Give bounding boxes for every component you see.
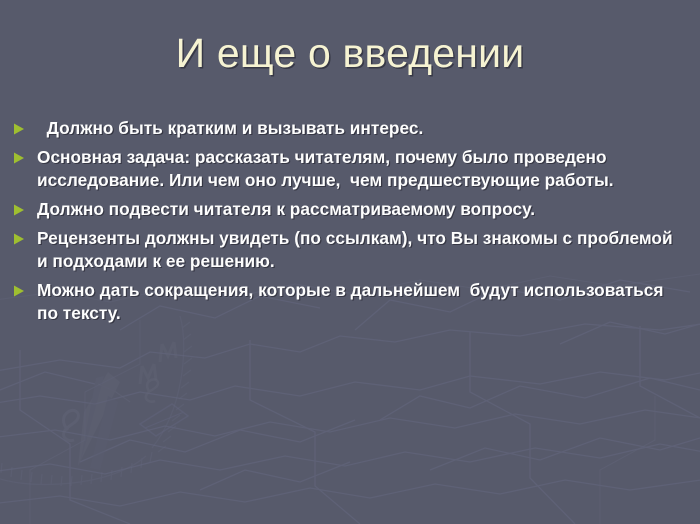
presentation-slide: И еще о введении Должно быть кратким и в… <box>0 0 700 524</box>
triangle-right-icon <box>13 152 25 164</box>
list-item-label: Должно подвести читателя к рассматриваем… <box>37 198 687 221</box>
list-item: Должно быть кратким и вызывать интерес. <box>13 117 687 140</box>
slide-title-container: И еще о введении <box>0 32 700 75</box>
list-item-label: Основная задача: рассказать читателям, п… <box>37 146 687 192</box>
list-item: Можно дать сокращения, которые в дальней… <box>13 279 687 325</box>
list-item: Рецензенты должны увидеть (по ссылкам), … <box>13 227 687 273</box>
triangle-right-icon <box>13 123 25 135</box>
list-item-label: Можно дать сокращения, которые в дальней… <box>37 279 687 325</box>
triangle-right-icon <box>13 204 25 216</box>
bullet-list: Должно быть кратким и вызывать интерес. … <box>13 117 687 325</box>
list-item: Должно подвести читателя к рассматриваем… <box>13 198 687 221</box>
list-item: Основная задача: рассказать читателям, п… <box>13 146 687 192</box>
list-item-label: Рецензенты должны увидеть (по ссылкам), … <box>37 227 687 273</box>
list-item-label: Должно быть кратким и вызывать интерес. <box>37 117 687 140</box>
triangle-right-icon <box>13 285 25 297</box>
triangle-right-icon <box>13 233 25 245</box>
page-title: И еще о введении <box>176 32 525 75</box>
